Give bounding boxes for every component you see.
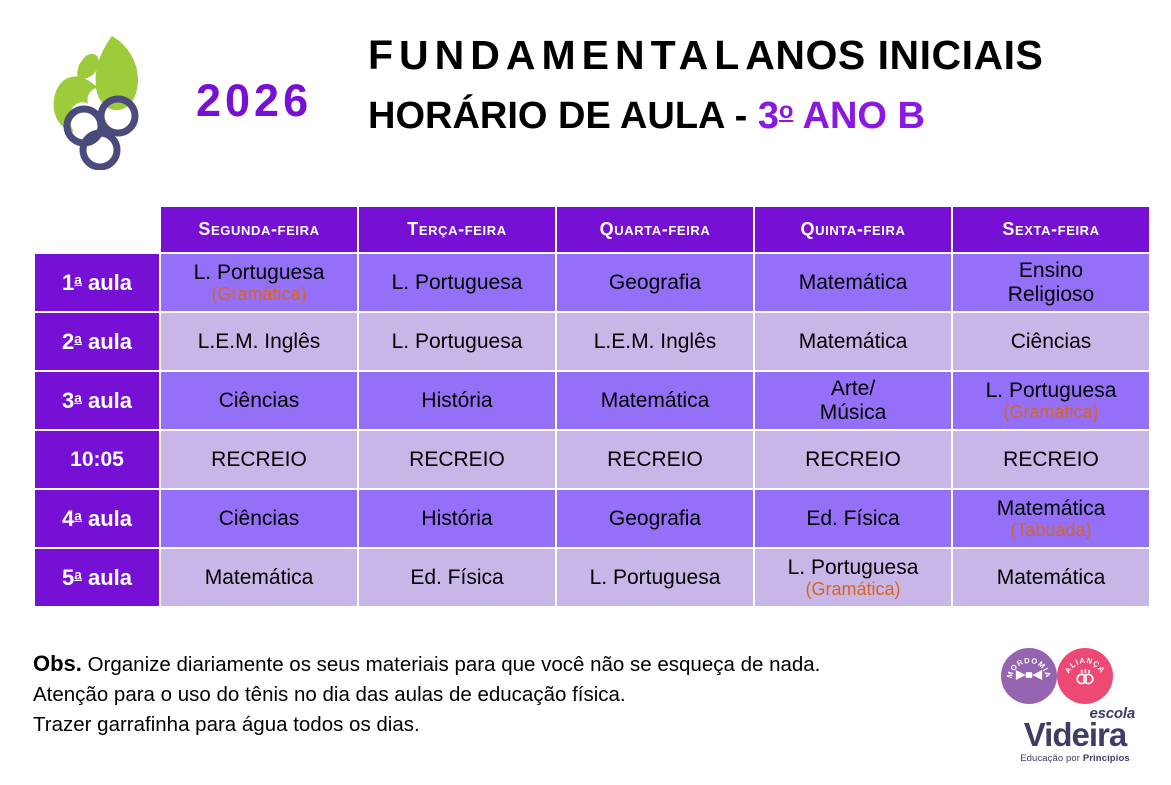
subject-cell: História (359, 490, 555, 547)
subject-name: Ciências (161, 389, 357, 413)
period-ordinal-mark: a (74, 272, 82, 287)
subject-name: L. Portuguesa (161, 261, 357, 285)
subject-name: RECREIO (557, 448, 753, 472)
subject-name: RECREIO (953, 448, 1149, 472)
year-label: 2026 (196, 78, 312, 123)
grade-number: 3 (758, 95, 779, 137)
subject-note: (Gramática) (755, 580, 951, 599)
schedule-row: 1a aulaL. Portuguesa(Gramática)L. Portug… (35, 254, 1149, 311)
subject-name: L. Portuguesa (359, 271, 555, 295)
schedule-row: 2a aulaL.E.M. InglêsL. PortuguesaL.E.M. … (35, 313, 1149, 370)
schedule-table-body: 1a aulaL. Portuguesa(Gramática)L. Portug… (35, 254, 1149, 606)
day-header-terca: Terça-feira (359, 207, 555, 252)
subject-name: L.E.M. Inglês (557, 330, 753, 354)
title-anos-iniciais-word: ANOS INICIAIS (745, 32, 1043, 78)
table-corner-cell (35, 207, 159, 252)
subject-name: EnsinoReligioso (953, 259, 1149, 306)
period-suffix: aula (82, 329, 132, 354)
subject-cell: Ciências (161, 372, 357, 429)
badge-alianca: ALIANÇA (1057, 648, 1113, 704)
subject-name: RECREIO (161, 448, 357, 472)
subject-cell: Matemática (161, 549, 357, 606)
schedule-row: 3a aulaCiênciasHistóriaMatemáticaArte/Mú… (35, 372, 1149, 429)
period-number: 4 (62, 506, 74, 531)
schedule-table: Segunda-feira Terça-feira Quarta-feira Q… (33, 205, 1151, 608)
bowtie-icon (1001, 668, 1057, 687)
subject-name: Matemática (557, 389, 753, 413)
subject-name: L.E.M. Inglês (161, 330, 357, 354)
day-header-sexta: Sexta-feira (953, 207, 1149, 252)
subject-name: Ciências (953, 330, 1149, 354)
observation-text-1: Organize diariamente os seus materiais p… (88, 653, 821, 676)
period-ordinal-mark: a (74, 390, 82, 405)
subject-cell: L. Portuguesa(Gramática) (161, 254, 357, 311)
subject-cell: L. Portuguesa(Gramática) (953, 372, 1149, 429)
grade-suffix: ANO B (793, 95, 925, 137)
subject-cell: Matemática(Tabuada) (953, 490, 1149, 547)
observation-line-3: Trazer garrafinha para água todos os dia… (33, 710, 963, 740)
subject-cell: RECREIO (359, 431, 555, 488)
observation-line-1: Obs. Organize diariamente os seus materi… (33, 648, 963, 680)
subject-cell: Arte/Música (755, 372, 951, 429)
subject-note: (Gramática) (953, 403, 1149, 422)
period-ordinal-mark: a (74, 567, 82, 582)
period-label: 4a aula (35, 490, 159, 547)
subject-name: Matemática (953, 566, 1149, 590)
grade-label: 3o ANO B (758, 95, 925, 137)
subject-cell: RECREIO (161, 431, 357, 488)
title-horario-prefix: HORÁRIO DE AULA - (368, 95, 758, 137)
schedule-row: 5a aulaMatemáticaEd. FísicaL. Portuguesa… (35, 549, 1149, 606)
subject-cell: Ciências (161, 490, 357, 547)
subject-name: RECREIO (755, 448, 951, 472)
title-block: FUNDAMENTALANOS INICIAIS HORÁRIO DE AULA… (368, 32, 1158, 139)
period-label: 5a aula (35, 549, 159, 606)
subject-cell: Ed. Física (755, 490, 951, 547)
school-logo: MORDOMIA ALIANÇA (995, 648, 1155, 776)
subject-cell: L. Portuguesa(Gramática) (755, 549, 951, 606)
subject-name: Matemática (161, 566, 357, 590)
period-suffix: aula (82, 565, 132, 590)
schedule-poster: 2026 FUNDAMENTALANOS INICIAIS HORÁRIO DE… (0, 0, 1171, 785)
subject-cell: RECREIO (755, 431, 951, 488)
day-header-segunda: Segunda-feira (161, 207, 357, 252)
subject-cell: RECREIO (953, 431, 1149, 488)
subject-name: Arte/Música (755, 377, 951, 424)
subject-cell: L.E.M. Inglês (557, 313, 753, 370)
period-number: 5 (62, 565, 74, 590)
subject-cell: Geografia (557, 254, 753, 311)
subject-cell: Matemática (953, 549, 1149, 606)
table-header-row: Segunda-feira Terça-feira Quarta-feira Q… (35, 207, 1149, 252)
subject-name: História (359, 507, 555, 531)
period-label-break: 10:05 (35, 431, 159, 488)
period-suffix: aula (82, 388, 132, 413)
title-line-fundamental: FUNDAMENTALANOS INICIAIS (368, 32, 1158, 79)
observation-line-2: Atenção para o uso do tênis no dia das a… (33, 680, 963, 710)
grade-ordinal-mark: o (779, 97, 793, 123)
period-label: 1a aula (35, 254, 159, 311)
subject-name: L. Portuguesa (359, 330, 555, 354)
subject-name: Matemática (953, 497, 1149, 521)
period-number: 1 (62, 270, 74, 295)
brand-tagline: Educação por Princípios (995, 753, 1155, 764)
subject-name: Matemática (755, 330, 951, 354)
period-ordinal-mark: a (74, 508, 82, 523)
subject-cell: Matemática (557, 372, 753, 429)
tagline-bold: Princípios (1083, 753, 1130, 764)
badge-mordomia: MORDOMIA (1001, 648, 1057, 704)
wedding-rings-icon (1057, 668, 1113, 690)
period-suffix: aula (82, 270, 132, 295)
subject-cell: RECREIO (557, 431, 753, 488)
schedule-row: 4a aulaCiênciasHistóriaGeografiaEd. Físi… (35, 490, 1149, 547)
subject-name: RECREIO (359, 448, 555, 472)
title-fundamental-word: FUNDAMENTAL (368, 32, 745, 78)
subject-name: Ed. Física (359, 566, 555, 590)
subject-cell: Ed. Física (359, 549, 555, 606)
day-header-quinta: Quinta-feira (755, 207, 951, 252)
subject-note: (Gramática) (161, 285, 357, 304)
subject-cell: EnsinoReligioso (953, 254, 1149, 311)
observation-label: Obs. (33, 651, 82, 676)
subject-name: História (359, 389, 555, 413)
schedule-row: 10:05RECREIORECREIORECREIORECREIORECREIO (35, 431, 1149, 488)
brand-videira-word: Videira (995, 719, 1155, 750)
subject-cell: História (359, 372, 555, 429)
videira-vine-logo (38, 30, 158, 170)
vine-grapes-icon (67, 99, 135, 167)
period-number: 3 (62, 388, 74, 413)
period-label: 2a aula (35, 313, 159, 370)
subject-name: L. Portuguesa (557, 566, 753, 590)
observations-block: Obs. Organize diariamente os seus materi… (33, 648, 963, 739)
poster-header: 2026 FUNDAMENTALANOS INICIAIS HORÁRIO DE… (0, 0, 1171, 190)
subject-cell: L. Portuguesa (359, 254, 555, 311)
subject-cell: L. Portuguesa (557, 549, 753, 606)
period-label: 3a aula (35, 372, 159, 429)
subject-cell: Ciências (953, 313, 1149, 370)
subject-cell: Matemática (755, 313, 951, 370)
subject-name: Geografia (557, 507, 753, 531)
subject-name: L. Portuguesa (953, 379, 1149, 403)
tagline-prefix: Educação por (1020, 753, 1083, 764)
subject-cell: L.E.M. Inglês (161, 313, 357, 370)
subject-cell: Geografia (557, 490, 753, 547)
period-ordinal-mark: a (74, 331, 82, 346)
day-header-quarta: Quarta-feira (557, 207, 753, 252)
subject-name: Ciências (161, 507, 357, 531)
subject-name: Ed. Física (755, 507, 951, 531)
subject-name: Matemática (755, 271, 951, 295)
subject-name: L. Portuguesa (755, 556, 951, 580)
title-line-horario: HORÁRIO DE AULA - 3o ANO B (368, 95, 1158, 139)
brand-text: escola Videira Educação por Princípios (995, 706, 1155, 764)
period-number: 2 (62, 329, 74, 354)
subject-note: (Tabuada) (953, 521, 1149, 540)
subject-cell: Matemática (755, 254, 951, 311)
period-suffix: aula (82, 506, 132, 531)
subject-name: Geografia (557, 271, 753, 295)
subject-cell: L. Portuguesa (359, 313, 555, 370)
